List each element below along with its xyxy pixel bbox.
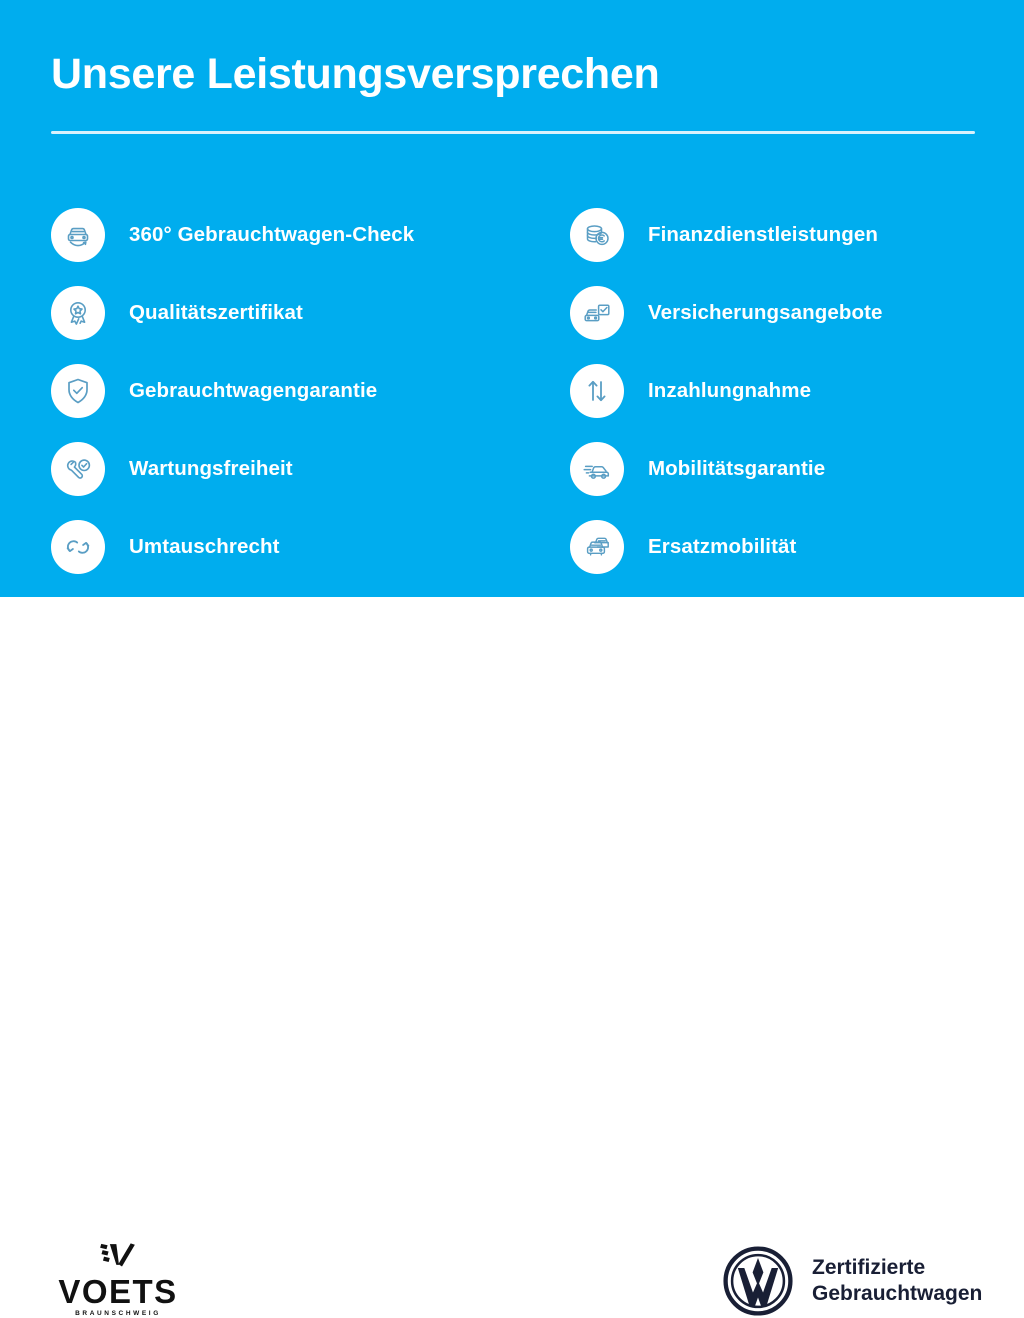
promise-label: 360° Gebrauchtwagen-Check <box>129 223 414 247</box>
promise-item-wartungsfreiheit[interactable]: Wartungsfreiheit <box>51 430 521 508</box>
promise-item-inzahlungnahme[interactable]: Inzahlungnahme <box>570 352 1010 430</box>
promise-label: Umtauschrecht <box>129 535 280 559</box>
wrench-check-icon <box>51 442 105 496</box>
promise-label: Gebrauchtwagengarantie <box>129 379 377 403</box>
promise-item-finanzdienstleistungen[interactable]: Finanzdienstleistungen <box>570 196 1010 274</box>
promise-item-gebrauchtwagen-check[interactable]: 360° Gebrauchtwagen-Check <box>51 196 521 274</box>
promise-label: Ersatzmobilität <box>648 535 796 559</box>
promise-label: Finanzdienstleistungen <box>648 223 878 247</box>
promise-label: Inzahlungnahme <box>648 379 811 403</box>
promise-label: Mobilitätsgarantie <box>648 457 825 481</box>
dealer-location: BRAUNSCHWEIG <box>48 1311 188 1318</box>
promise-label: Versicherungsangebote <box>648 301 883 325</box>
voets-v-mark-icon <box>48 1241 188 1271</box>
car-motion-icon <box>570 442 624 496</box>
promise-column-right: Finanzdienstleistungen <box>570 196 1010 586</box>
promise-item-ersatzmobilitaet[interactable]: Ersatzmobilität <box>570 508 1010 586</box>
promise-column-left: 360° Gebrauchtwagen-Check Qualitätszerti… <box>51 196 521 586</box>
brand-lockup-line2: Gebrauchtwagen <box>812 1281 982 1307</box>
brand-lockup[interactable]: Zertifizierte Gebrauchtwagen <box>722 1245 982 1317</box>
brand-lockup-line1: Zertifizierte <box>812 1255 982 1281</box>
promise-label: Qualitätszertifikat <box>129 301 303 325</box>
promise-poster: Unsere Leistungsversprechen <box>0 0 1024 768</box>
footer-bar: VOETS BRAUNSCHWEIG Zertifizierte Gebrauc… <box>0 597 1024 768</box>
coins-euro-icon <box>570 208 624 262</box>
promise-item-versicherungsangebote[interactable]: Versicherungsangebote <box>570 274 1010 352</box>
car-document-check-icon <box>570 286 624 340</box>
volkswagen-logo-icon <box>722 1245 794 1317</box>
exchange-arrows-icon <box>51 520 105 574</box>
page-title: Unsere Leistungsversprechen <box>51 52 659 97</box>
promise-label: Wartungsfreiheit <box>129 457 293 481</box>
promise-item-gebrauchtwagengarantie[interactable]: Gebrauchtwagengarantie <box>51 352 521 430</box>
brand-lockup-text: Zertifizierte Gebrauchtwagen <box>812 1255 982 1306</box>
promise-item-mobilitaetsgarantie[interactable]: Mobilitätsgarantie <box>570 430 1010 508</box>
dealer-name: VOETS <box>48 1275 188 1308</box>
up-down-arrows-icon <box>570 364 624 418</box>
promise-item-qualitaetszertifikat[interactable]: Qualitätszertifikat <box>51 274 521 352</box>
shield-check-icon <box>51 364 105 418</box>
promise-item-umtauschrecht[interactable]: Umtauschrecht <box>51 508 521 586</box>
dealer-logo[interactable]: VOETS BRAUNSCHWEIG <box>48 1241 188 1318</box>
title-divider <box>51 131 975 134</box>
two-cars-icon <box>570 520 624 574</box>
car-check-icon <box>51 208 105 262</box>
hero-panel: Unsere Leistungsversprechen <box>0 0 1024 597</box>
award-rosette-icon <box>51 286 105 340</box>
